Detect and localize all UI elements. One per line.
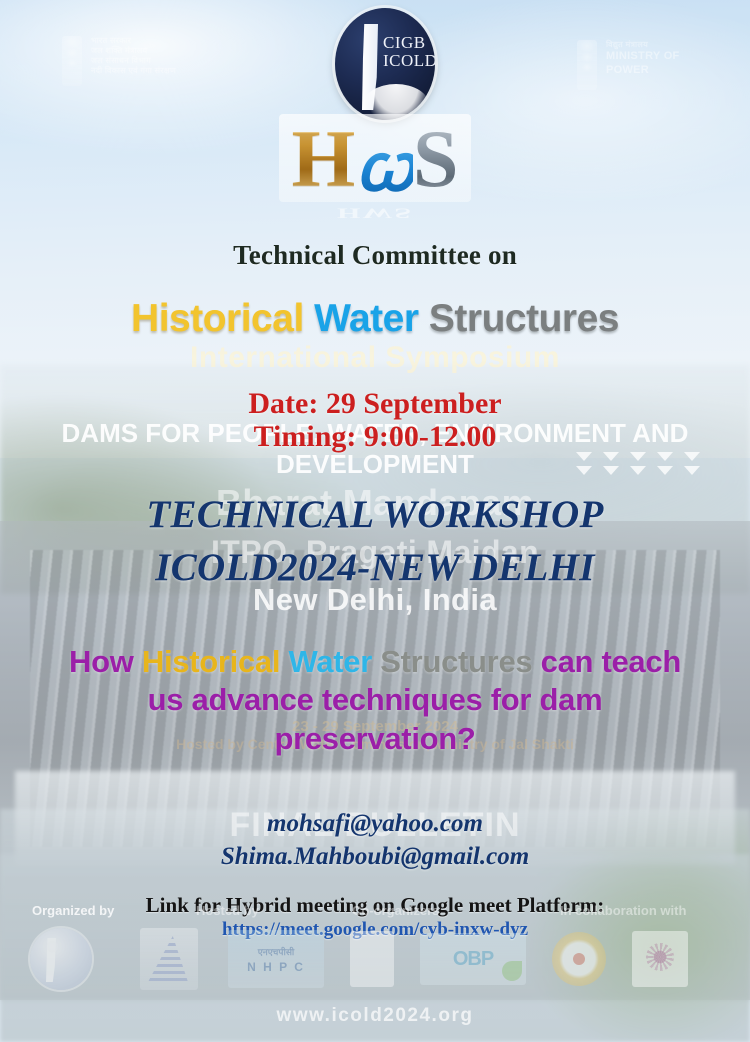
ashoka-lion-capital-icon [62,36,82,86]
hws-logo: HꞷS [0,114,750,202]
event-timing: Timing: 9:00-12.00 [0,420,750,454]
workshop-title-line-2: ICOLD2024-NEW DELHI [0,545,750,590]
poster-canvas: International Symposium DAMS FOR PEOPLE,… [0,0,750,1042]
icold-logo-text: CIGB ICOLD [383,34,435,70]
nhpc-hindi-label: एनएचपीसी [258,945,295,958]
emblem-line-2: जल शक्ति मंत्रालय [91,46,176,56]
ministry-of-power-emblem: विद्युत मंत्रालय MINISTRY OF POWER [577,40,680,90]
footer-partner-logo-1 [350,931,394,987]
co-organizers-label: Co-organizers [352,903,439,918]
ashoka-lion-capital-icon [577,40,597,90]
hws-letter-s: S [413,113,459,204]
question-lead: How [69,644,142,679]
title-historical: Historical [131,297,304,340]
contact-email-2[interactable]: Shima.Mahboubi@gmail.com [0,843,750,871]
icold-icold-label: ICOLD [383,52,435,70]
hosted-by-label: Hosted by [196,903,259,918]
emblem-line-3: जल संसाधन विभाग [91,56,176,66]
footer-cwc-logo [140,928,198,990]
workshop-title-line-1: TECHNICAL WORKSHOP [0,492,750,537]
footer-seal-logo [552,932,606,986]
decorative-triangle-band [576,452,706,486]
hws-letter-w-wave-icon: ꞷ [355,129,413,206]
footer-icold-logo [30,928,92,990]
ministry-of-power-text: विद्युत मंत्रालय MINISTRY OF POWER [606,40,680,90]
workshop-question: How Historical Water Structures can teac… [48,643,702,758]
hws-logo-reflection: HWS [0,205,750,222]
question-structures: Structures [372,644,532,679]
mop-line-2: POWER [606,64,680,78]
hws-letter-h: H [291,113,355,204]
emblem-line-1: भारत सरकार [91,36,176,46]
government-of-india-emblem: भारत सरकार जल शक्ति मंत्रालय जल संसाधन व… [62,36,176,86]
icold-cigb-label: CIGB [383,34,435,52]
footer-partner-logo-2 [632,931,688,987]
title-water: Water [314,297,418,340]
mop-hindi: विद्युत मंत्रालय [606,40,680,50]
title-structures: Structures [429,297,619,340]
sponsor-logo-row: एनएचपीसी N H P C OBP [0,928,750,990]
technical-committee-label: Technical Committee on [0,240,750,271]
emblem-line-4: नदी विकास एवं गंगा संरक्षण [91,66,176,76]
footer-nhpc-logo: एनएचपीसी N H P C [228,930,324,988]
question-historical: Historical [142,644,280,679]
event-date: Date: 29 September [0,387,750,421]
footer-obp-logo: OBP [420,933,526,985]
mop-line-1: MINISTRY OF [606,50,680,64]
contact-email-1[interactable]: mohsafi@yahoo.com [0,810,750,838]
jal-shakti-ministry-text: भारत सरकार जल शक्ति मंत्रालय जल संसाधन व… [91,36,176,86]
nhpc-label: N H P C [247,960,305,974]
organized-by-label: Organized by [32,903,114,918]
in-collaboration-label: In collaboration with [560,903,686,918]
icold-logo: CIGB ICOLD [335,8,435,120]
obp-label: OBP [453,948,493,971]
poster-title: Historical Water Structures [0,297,750,341]
question-water: Water [280,644,372,679]
